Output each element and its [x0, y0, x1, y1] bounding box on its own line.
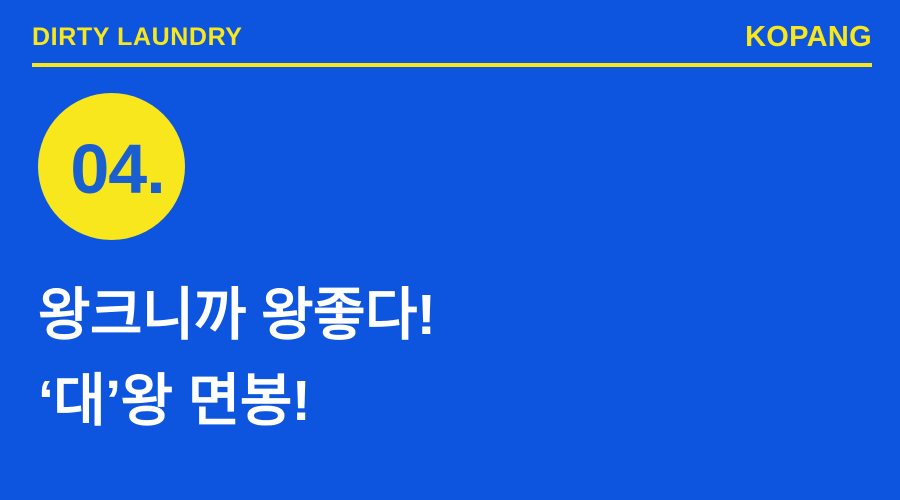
slide-canvas: DIRTY LAUNDRY KOPANG 04. 왕크니까 왕좋다! ‘대’왕 …: [0, 0, 900, 500]
headline-block: 왕크니까 왕좋다! ‘대’왕 면봉!: [38, 272, 868, 444]
headline-line-1: 왕크니까 왕좋다!: [38, 272, 868, 358]
brand-name-right: KOPANG: [745, 23, 872, 52]
header-divider-line: [32, 63, 872, 67]
headline-line-2: ‘대’왕 면봉!: [38, 358, 868, 444]
slide-header: DIRTY LAUNDRY KOPANG: [32, 20, 872, 54]
section-number-badge: 04.: [38, 93, 185, 240]
section-number-label: 04.: [70, 134, 164, 204]
brand-name-left: DIRTY LAUNDRY: [32, 25, 243, 50]
